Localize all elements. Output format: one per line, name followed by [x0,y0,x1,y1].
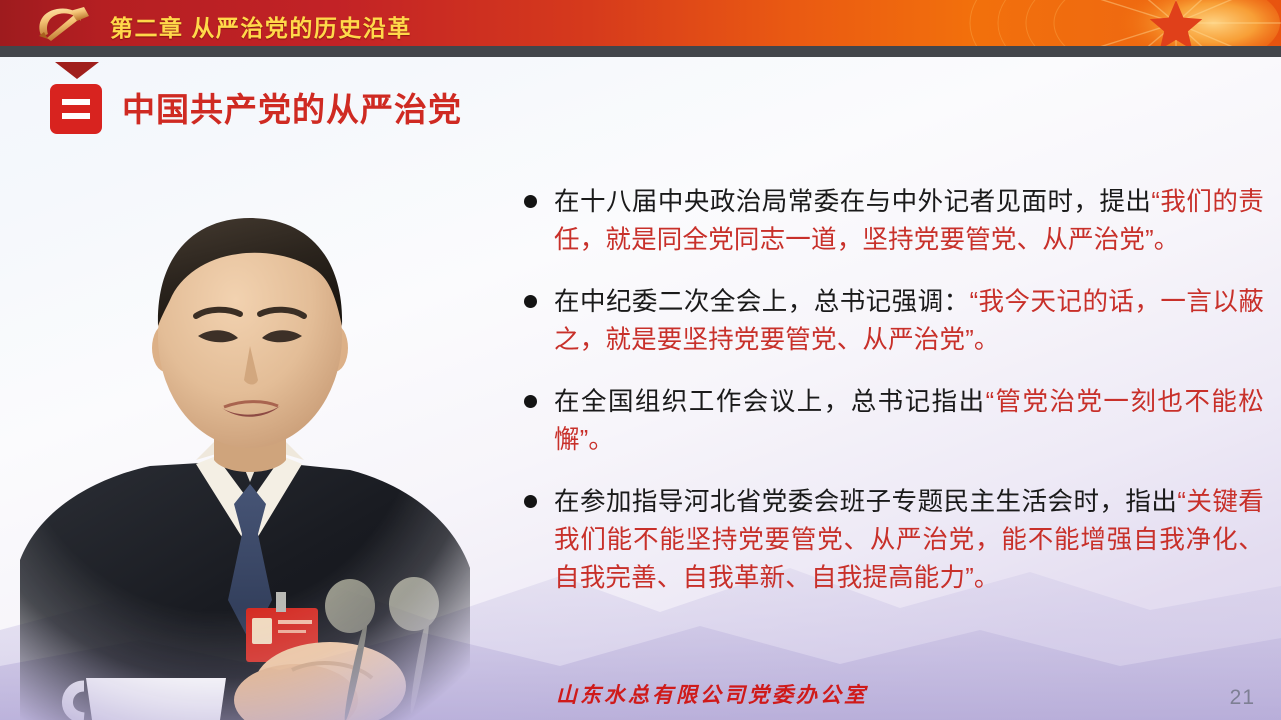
section-title-text: 中国共产党的从严治党 [122,83,462,131]
bullet-lead: 在全国组织工作会议上，总书记指出 [554,388,986,416]
bullet-text: 在中纪委二次全会上，总书记强调：“我今天记的话，一言以蔽之，就是要坚持党要管党、… [554,283,1264,359]
bullet-text: 在参加指导河北省党委会班子专题民主生活会时，指出“关键看我们能不能坚持党要管党、… [554,483,1264,597]
bullet-text: 在十八届中央政治局常委在与中外记者见面时，提出“我们的责任，就是同全党同志一道，… [554,183,1264,259]
list-item: 在中纪委二次全会上，总书记强调：“我今天记的话，一言以蔽之，就是要坚持党要管党、… [524,283,1264,359]
bullet-tail: 。 [974,326,1000,354]
bullet-list: 在十八届中央政治局常委在与中外记者见面时，提出“我们的责任，就是同全党同志一道，… [524,183,1264,621]
list-item: 在参加指导河北省党委会班子专题民主生活会时，指出“关键看我们能不能坚持党要管党、… [524,483,1264,597]
bullet-text: 在全国组织工作会议上，总书记指出“管党治党一刻也不能松懈”。 [554,383,1264,459]
page-number: 21 [1230,686,1255,710]
badge-stroke-bottom [62,113,90,119]
slide: 第二章 从严治党的历史沿革 二 中国共产党的从严治党 [0,0,1281,720]
bullet-tail: 。 [1154,226,1180,254]
list-item: 在十八届中央政治局常委在与中外记者见面时，提出“我们的责任，就是同全党同志一道，… [524,183,1264,259]
bullet-tail: 。 [588,426,614,454]
star-burst-icon [951,0,1281,46]
bullet-tail: 。 [974,564,1000,592]
section-title: 二 中国共产党的从严治党 [50,62,462,134]
bullet-dot-icon [524,495,537,508]
section-badge-wrap: 二 [50,62,108,134]
badge-stroke-top [62,99,90,105]
bullet-lead: 在参加指导河北省党委会班子专题民主生活会时，指出 [554,488,1177,516]
chapter-header-bar: 第二章 从严治党的历史沿革 [0,0,1281,46]
section-number-badge: 二 [50,84,102,134]
hammer-sickle-emblem [26,3,100,43]
list-item: 在全国组织工作会议上，总书记指出“管党治党一刻也不能松懈”。 [524,383,1264,459]
bullet-dot-icon [524,195,537,208]
bullet-dot-icon [524,395,537,408]
triangle-down-icon [55,62,99,79]
chapter-title: 第二章 从严治党的历史沿革 [110,9,412,43]
bullet-lead: 在十八届中央政治局常委在与中外记者见面时，提出 [554,188,1151,216]
header-underline [0,46,1281,57]
portrait-photo [0,130,510,720]
footer-organization: 山东水总有限公司党委办公室 [556,679,868,709]
bullet-lead: 在中纪委二次全会上，总书记强调： [554,288,970,316]
bullet-dot-icon [524,295,537,308]
